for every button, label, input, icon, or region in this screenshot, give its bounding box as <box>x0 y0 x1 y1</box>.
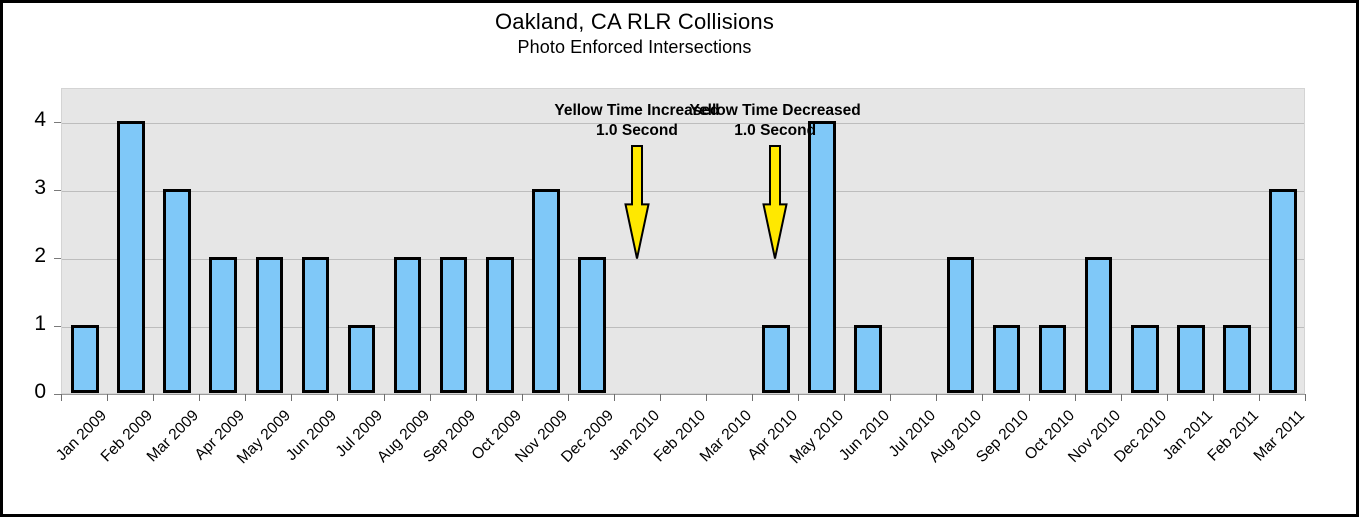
bar[interactable] <box>302 257 330 393</box>
annotation-line2: 1.0 Second <box>575 121 975 141</box>
y-tick-label: 0 <box>6 380 46 404</box>
x-tick-mark <box>153 394 154 401</box>
title-block: Oakland, CA RLR Collisions Photo Enforce… <box>3 9 1359 59</box>
x-tick-mark <box>982 394 983 401</box>
down-arrow-icon <box>622 144 652 260</box>
bar[interactable] <box>1177 325 1205 393</box>
x-tick-mark <box>1075 394 1076 401</box>
x-tick-mark <box>1029 394 1030 401</box>
bar[interactable] <box>1039 325 1067 393</box>
gridline <box>62 327 1304 328</box>
bar[interactable] <box>1269 189 1297 393</box>
x-tick-mark <box>199 394 200 401</box>
y-tick-label: 3 <box>6 176 46 200</box>
chart-container: Oakland, CA RLR Collisions Photo Enforce… <box>0 0 1359 517</box>
y-tick-label: 2 <box>6 244 46 268</box>
annotation-line1: Yellow Time Decreased <box>690 102 861 119</box>
x-tick-mark <box>476 394 477 401</box>
bar[interactable] <box>256 257 284 393</box>
gridline <box>62 191 1304 192</box>
x-tick-mark <box>61 394 62 401</box>
x-tick-mark <box>1121 394 1122 401</box>
x-tick-mark <box>614 394 615 401</box>
x-tick-mark <box>890 394 891 401</box>
x-tick-mark <box>1305 394 1306 401</box>
x-axis-line <box>61 394 1306 395</box>
chart-subtitle: Photo Enforced Intersections <box>0 35 1314 59</box>
x-tick-mark <box>844 394 845 401</box>
bar[interactable] <box>1131 325 1159 393</box>
bar[interactable] <box>163 189 191 393</box>
y-tick-label: 1 <box>6 312 46 336</box>
y-tick-label: 4 <box>6 108 46 132</box>
x-tick-mark <box>1167 394 1168 401</box>
x-tick-mark <box>384 394 385 401</box>
down-arrow-icon <box>760 144 790 260</box>
x-tick-mark <box>337 394 338 401</box>
bar[interactable] <box>440 257 468 393</box>
bar[interactable] <box>348 325 376 393</box>
bar[interactable] <box>1223 325 1251 393</box>
x-tick-mark <box>107 394 108 401</box>
x-tick-mark <box>522 394 523 401</box>
x-tick-mark <box>1259 394 1260 401</box>
page-title: Oakland, CA RLR Collisions <box>0 9 1314 35</box>
x-tick-mark <box>1213 394 1214 401</box>
x-tick-mark <box>291 394 292 401</box>
bar[interactable] <box>394 257 422 393</box>
bar[interactable] <box>117 121 145 393</box>
gridline <box>62 259 1304 260</box>
bar[interactable] <box>578 257 606 393</box>
x-tick-mark <box>430 394 431 401</box>
bar[interactable] <box>854 325 882 393</box>
bar[interactable] <box>486 257 514 393</box>
x-tick-mark <box>568 394 569 401</box>
bar[interactable] <box>808 121 836 393</box>
bar[interactable] <box>947 257 975 393</box>
x-tick-mark <box>798 394 799 401</box>
y-tick-mark <box>54 326 61 327</box>
x-tick-mark <box>706 394 707 401</box>
y-tick-mark <box>54 258 61 259</box>
bar[interactable] <box>762 325 790 393</box>
y-tick-mark <box>54 122 61 123</box>
y-tick-mark <box>54 190 61 191</box>
x-tick-mark <box>245 394 246 401</box>
annotation-label: Yellow Time Decreased1.0 Second <box>575 101 975 141</box>
x-tick-mark <box>936 394 937 401</box>
y-tick-mark <box>54 394 61 395</box>
bar[interactable] <box>1085 257 1113 393</box>
x-tick-mark <box>660 394 661 401</box>
bar[interactable] <box>532 189 560 393</box>
x-tick-mark <box>752 394 753 401</box>
bar[interactable] <box>993 325 1021 393</box>
bar[interactable] <box>71 325 99 393</box>
bar[interactable] <box>209 257 237 393</box>
